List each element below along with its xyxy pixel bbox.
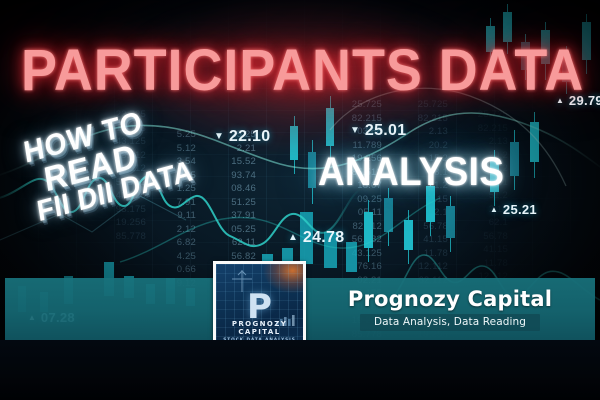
arrow-up-icon: ▲ (490, 206, 498, 214)
logo-text-band: PROGNOZY CAPITAL STOCK DATA ANALYSIS (216, 320, 303, 342)
ticker-value: 24.78 (303, 229, 345, 247)
ticker-2478: ▲ 24.78 (288, 229, 344, 247)
logo-name: PROGNOZY CAPITAL (216, 320, 303, 336)
ticker-2521: ▲ 25.21 (490, 202, 537, 217)
logo-card: P PROGNOZY CAPITAL STOCK DATA ANALYSIS (213, 261, 306, 349)
logo-face: P PROGNOZY CAPITAL STOCK DATA ANALYSIS (216, 264, 303, 346)
arrow-down-icon: ▼ (350, 126, 360, 136)
brand-subtitle: Data Analysis, Data Reading (374, 316, 526, 328)
bottom-letterbox (0, 340, 600, 400)
ticker-value: 22.10 (229, 128, 271, 146)
thumbnail-canvas: 23.725 18.123 43.125 13.512 82.112 56.78… (0, 0, 600, 400)
arrow-down-icon: ▼ (214, 132, 224, 142)
brand-title: Prognozy Capital (348, 287, 552, 311)
ticker-2210: ▼ 22.10 (214, 128, 270, 146)
ticker-value: 25.01 (365, 122, 407, 140)
logo-monogram: P (216, 290, 303, 324)
page-title: PARTICIPANTS DATA (21, 42, 579, 100)
analysis-word: ANALYSIS (318, 152, 504, 192)
ticker-2501: ▼ 25.01 (350, 122, 406, 140)
brand-subtitle-box: Data Analysis, Data Reading (360, 314, 540, 331)
arrow-up-icon: ▲ (288, 233, 298, 243)
brand-block: Prognozy Capital Data Analysis, Data Rea… (320, 278, 580, 340)
ticker-value: 25.21 (503, 202, 537, 217)
